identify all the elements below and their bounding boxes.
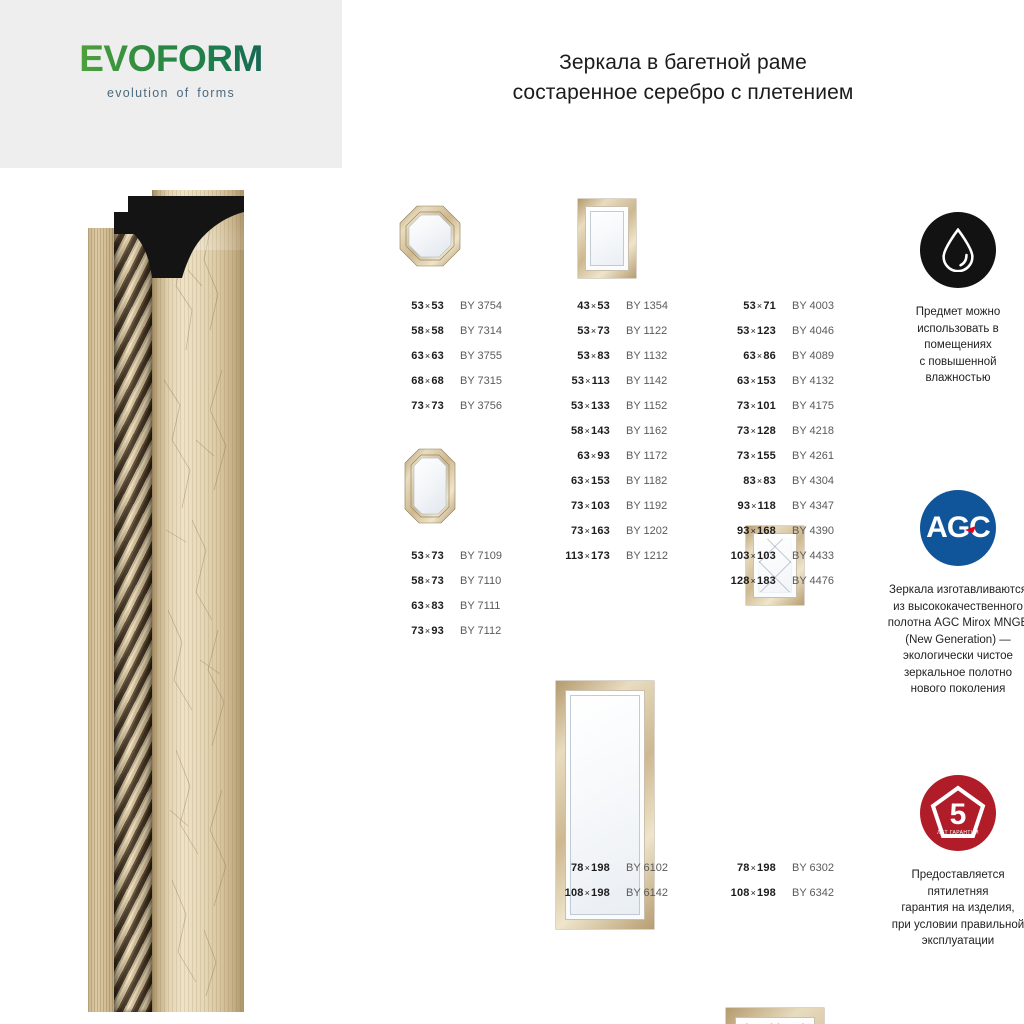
size-code: BY 7112 [460, 625, 501, 637]
size-row[interactable]: 93×168 BY 4390 [714, 525, 834, 550]
page-title-line-1: Зеркала в багетной раме [342, 48, 1024, 78]
size-code: BY 1122 [626, 325, 667, 337]
mirror-bevel [590, 211, 624, 266]
size-dimension: 43×53 [548, 300, 610, 312]
size-code: BY 1212 [626, 550, 668, 562]
size-row[interactable]: 128×183 BY 4476 [714, 575, 834, 600]
mirror-glass [585, 206, 629, 271]
size-code: BY 6302 [792, 862, 834, 874]
badge-moisture-text: Предмет можно использовать в помещениях … [878, 304, 1024, 387]
size-dimension: 93×118 [714, 500, 776, 512]
size-dimension: 73×101 [714, 400, 776, 412]
size-row[interactable]: 63×153 BY 4132 [714, 375, 834, 400]
badge-line: нового поколения [878, 681, 1024, 698]
size-code: BY 4132 [792, 375, 834, 387]
size-dimension: 63×153 [548, 475, 610, 487]
size-list-octagon-tall: 53×73 BY 7109 58×73 BY 7110 63×83 BY 711… [382, 550, 502, 650]
size-row[interactable]: 53×83 BY 1132 [548, 350, 668, 375]
badge-line: гарантия на изделия, [878, 900, 1024, 917]
warranty-glyph: 5 ЛЕТ ГАРАНТИИ [920, 775, 996, 851]
size-row[interactable]: 53×133 BY 1152 [548, 400, 668, 425]
size-list-rectangular: 43×53 BY 1354 53×73 BY 1122 53×83 BY 113… [548, 300, 668, 575]
size-row[interactable]: 78×198 BY 6302 [714, 862, 834, 887]
size-code: BY 4390 [792, 525, 834, 537]
badge-warranty: 5 ЛЕТ ГАРАНТИИ Предоставляется пятилетня… [878, 775, 1024, 950]
size-code: BY 4046 [792, 325, 834, 337]
size-code: BY 1354 [626, 300, 668, 312]
size-row[interactable]: 73×163 BY 1202 [548, 525, 668, 550]
size-row[interactable]: 58×73 BY 7110 [382, 575, 502, 600]
badge-line: влажностью [878, 370, 1024, 387]
size-dimension: 53×53 [382, 300, 444, 312]
octagon-mirror-image [399, 205, 461, 267]
agc-logo-icon: AGC [920, 490, 996, 566]
size-row[interactable]: 93×118 BY 4347 [714, 500, 834, 525]
size-dimension: 53×83 [548, 350, 610, 362]
page-header: EVOFORM evolution of forms Зеркала в баг… [0, 0, 1024, 170]
size-row[interactable]: 68×68 BY 7315 [382, 375, 502, 400]
warranty-number: 5 [950, 798, 967, 831]
badge-line: экологически чистое [878, 648, 1024, 665]
size-row[interactable]: 103×103 BY 4433 [714, 550, 834, 575]
size-row[interactable]: 58×143 BY 1162 [548, 425, 668, 450]
size-code: BY 4347 [792, 500, 834, 512]
agc-logo-accent [920, 490, 996, 566]
size-dimension: 128×183 [714, 575, 776, 587]
size-row[interactable]: 53×73 BY 7109 [382, 550, 502, 575]
badge-warranty-text: Предоставляется пятилетняя гарантия на и… [878, 867, 1024, 950]
size-dimension: 78×198 [714, 862, 776, 874]
size-code: BY 7314 [460, 325, 502, 337]
size-dimension: 73×103 [548, 500, 610, 512]
size-row[interactable]: 73×101 BY 4175 [714, 400, 834, 425]
size-code: BY 7110 [460, 575, 501, 587]
badge-line: помещениях [878, 337, 1024, 354]
size-dimension: 78×198 [548, 862, 610, 874]
size-row[interactable]: 108×198 BY 6342 [714, 887, 834, 912]
size-code: BY 4304 [792, 475, 834, 487]
size-row[interactable]: 78×198 BY 6102 [548, 862, 668, 887]
size-dimension: 53×73 [382, 550, 444, 562]
size-row[interactable]: 63×153 BY 1182 [548, 475, 668, 500]
size-code: BY 7315 [460, 375, 502, 387]
octagon-tall-mirror-thumb[interactable] [404, 448, 456, 524]
size-dimension: 73×93 [382, 625, 444, 637]
size-dimension: 53×71 [714, 300, 776, 312]
size-dimension: 53×133 [548, 400, 610, 412]
size-row[interactable]: 58×58 BY 7314 [382, 325, 502, 350]
mirror-glass [735, 1017, 815, 1024]
badge-line: полотна AGC Mirox MNGE [878, 615, 1024, 632]
size-row[interactable]: 63×93 BY 1172 [548, 450, 668, 475]
size-code: BY 1192 [626, 500, 667, 512]
size-dimension: 68×68 [382, 375, 444, 387]
size-code: BY 1162 [626, 425, 667, 437]
warranty-pentagon-icon: 5 ЛЕТ ГАРАНТИИ [920, 775, 996, 851]
octagon-mirror-thumb[interactable] [399, 205, 461, 267]
size-dimension: 53×123 [714, 325, 776, 337]
water-drop-icon [920, 212, 996, 288]
size-dimension: 63×86 [714, 350, 776, 362]
size-dimension: 73×128 [714, 425, 776, 437]
size-code: BY 1142 [626, 375, 667, 387]
size-list-lattice: 53×71 BY 4003 53×123 BY 4046 63×86 BY 40… [714, 300, 834, 600]
size-code: BY 1132 [626, 350, 667, 362]
frame-back-edge [88, 228, 114, 1012]
size-dimension: 113×173 [548, 550, 610, 562]
rectangular-mirror-thumb[interactable] [578, 199, 636, 278]
size-list-tall-rectangular: 78×198 BY 6102 108×198 BY 6142 [548, 862, 668, 912]
badge-moisture: Предмет можно использовать в помещениях … [878, 212, 1024, 387]
catalog-page: EVOFORM evolution of forms Зеркала в баг… [0, 0, 1024, 1024]
size-code: BY 4089 [792, 350, 834, 362]
size-dimension: 58×58 [382, 325, 444, 337]
size-code: BY 7109 [460, 550, 502, 562]
brand-logo: EVOFORM evolution of forms [0, 40, 342, 100]
size-row[interactable]: 108×198 BY 6142 [548, 887, 668, 912]
size-dimension: 93×168 [714, 525, 776, 537]
size-dimension: 73×155 [714, 450, 776, 462]
size-code: BY 4175 [792, 400, 834, 412]
size-code: BY 4476 [792, 575, 834, 587]
size-row[interactable]: 83×83 BY 4304 [714, 475, 834, 500]
logo-block: EVOFORM evolution of forms [0, 0, 342, 168]
size-code: BY 3756 [460, 400, 502, 412]
size-list-octagon-round: 53×53 BY 3754 58×58 BY 7314 63×63 BY 375… [382, 300, 502, 425]
size-row[interactable]: 53×113 BY 1142 [548, 375, 668, 400]
badge-line: с повышенной [878, 354, 1024, 371]
size-dimension: 58×73 [382, 575, 444, 587]
size-row[interactable]: 63×83 BY 7111 [382, 600, 502, 625]
page-title-line-2: состаренное серебро с плетением [342, 78, 1024, 108]
size-code: BY 4433 [792, 550, 834, 562]
size-row[interactable]: 53×123 BY 4046 [714, 325, 834, 350]
badge-line: зеркальное полотно [878, 665, 1024, 682]
badge-line: Предоставляется [878, 867, 1024, 884]
size-code: BY 1152 [626, 400, 667, 412]
size-code: BY 1172 [626, 450, 667, 462]
size-code: BY 3754 [460, 300, 502, 312]
size-code: BY 4218 [792, 425, 834, 437]
size-code: BY 6102 [626, 862, 668, 874]
size-code: BY 1182 [626, 475, 667, 487]
size-dimension: 63×63 [382, 350, 444, 362]
size-row[interactable]: 63×63 BY 3755 [382, 350, 502, 375]
badge-line: использовать в [878, 321, 1024, 338]
warranty-caption: ЛЕТ ГАРАНТИИ [937, 830, 979, 836]
frame-rope-shading [114, 228, 152, 1012]
size-dimension: 83×83 [714, 475, 776, 487]
frame-moulding-profile [88, 182, 244, 1012]
size-dimension: 73×73 [382, 400, 444, 412]
size-dimension: 53×73 [548, 325, 610, 337]
size-code: BY 1202 [626, 525, 668, 537]
frame-crackle-texture [152, 190, 244, 1012]
size-dimension: 63×83 [382, 600, 444, 612]
size-row[interactable]: 53×53 BY 3754 [382, 300, 502, 325]
water-drop-glyph [941, 228, 975, 272]
size-dimension: 53×113 [548, 375, 610, 387]
badge-line: Зеркала изготавливаются [878, 582, 1024, 599]
size-code: BY 6142 [626, 887, 668, 899]
size-row[interactable]: 53×73 BY 1122 [548, 325, 668, 350]
size-dimension: 73×163 [548, 525, 610, 537]
badge-agc-text: Зеркала изготавливаются из высококачеств… [878, 582, 1024, 698]
size-row[interactable]: 73×103 BY 1192 [548, 500, 668, 525]
size-row[interactable]: 73×73 BY 3756 [382, 400, 502, 425]
tall-lattice-mirror-thumb[interactable] [726, 1008, 824, 1024]
size-list-tall-lattice: 78×198 BY 6302 108×198 BY 6342 [714, 862, 834, 912]
size-row[interactable]: 73×155 BY 4261 [714, 450, 834, 475]
size-dimension: 108×198 [714, 887, 776, 899]
size-row[interactable]: 113×173 BY 1212 [548, 550, 668, 575]
badge-line: при условии правильной [878, 917, 1024, 934]
size-dimension: 63×153 [714, 375, 776, 387]
size-row[interactable]: 73×93 BY 7112 [382, 625, 502, 650]
size-dimension: 63×93 [548, 450, 610, 462]
size-row[interactable]: 73×128 BY 4218 [714, 425, 834, 450]
badge-line: Предмет можно [878, 304, 1024, 321]
page-title: Зеркала в багетной раме состаренное сере… [342, 48, 1024, 108]
badge-agc: AGC Зеркала изготавливаются из высококач… [878, 490, 1024, 698]
brand-tagline: evolution of forms [0, 86, 342, 100]
size-code: BY 3755 [460, 350, 502, 362]
brand-wordmark: EVOFORM [0, 40, 342, 77]
size-dimension: 58×143 [548, 425, 610, 437]
size-code: BY 6342 [792, 887, 834, 899]
size-code: BY 7111 [460, 600, 500, 612]
badge-line: эксплуатации [878, 933, 1024, 950]
size-dimension: 103×103 [714, 550, 776, 562]
octagon-tall-mirror-image [404, 448, 456, 524]
size-row[interactable]: 63×86 BY 4089 [714, 350, 834, 375]
badge-line: из высококачественного [878, 599, 1024, 616]
badge-line: пятилетняя [878, 884, 1024, 901]
frame-cross-section-silhouette [88, 182, 244, 302]
size-dimension: 108×198 [548, 887, 610, 899]
size-row[interactable]: 53×71 BY 4003 [714, 300, 834, 325]
badge-line: (New Generation) — [878, 632, 1024, 649]
size-code: BY 4003 [792, 300, 834, 312]
size-code: BY 4261 [792, 450, 834, 462]
size-row[interactable]: 43×53 BY 1354 [548, 300, 668, 325]
